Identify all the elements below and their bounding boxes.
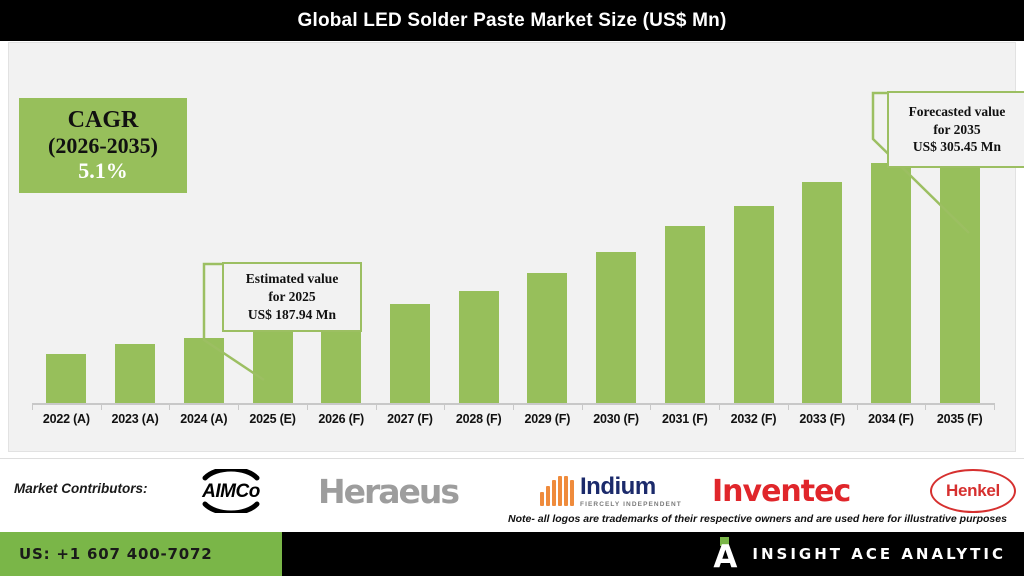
footer-brand-block: A INSIGHT ACE ANALYTIC (712, 532, 1006, 576)
indium-tagline: FIERCELY INDEPENDENT (580, 501, 682, 508)
bar-2023 (115, 344, 155, 403)
x-axis-label-2029: 2029 (F) (513, 412, 581, 426)
axis-tick (582, 403, 583, 410)
bar-2033 (802, 182, 842, 403)
bar-2029 (527, 273, 567, 403)
indium-wordmark: Indium (580, 475, 682, 499)
axis-tick (925, 403, 926, 410)
estimated-line-2: for 2025 (268, 288, 315, 306)
estimated-value-callout: Estimated value for 2025 US$ 187.94 Mn (222, 262, 362, 332)
cagr-box: CAGR (2026-2035) 5.1% (19, 98, 187, 193)
henkel-wordmark: Henkel (946, 481, 1000, 501)
logo-heraeus: Heraeus (318, 467, 458, 515)
x-axis-label-2030: 2030 (F) (582, 412, 650, 426)
footer-contact-block: US: +1 607 400-7072 (0, 532, 282, 576)
bar-2027 (390, 304, 430, 403)
x-axis-label-2027: 2027 (F) (376, 412, 444, 426)
insight-ace-logo-icon: A (712, 537, 738, 571)
x-axis-label-2026: 2026 (F) (307, 412, 375, 426)
chart-panel: 2022 (A)2023 (A)2024 (A)2025 (E)2026 (F)… (8, 42, 1016, 452)
x-axis-label-2032: 2032 (F) (720, 412, 788, 426)
page-title: Global LED Solder Paste Market Size (US$… (297, 10, 726, 32)
market-contributors-label: Market Contributors: (14, 481, 148, 496)
forecasted-line-2: for 2035 (933, 121, 980, 139)
estimated-line-1: Estimated value (246, 270, 339, 288)
heraeus-wordmark: Heraeus (318, 472, 458, 511)
bar-2022 (46, 354, 86, 403)
axis-tick (101, 403, 102, 410)
cagr-value: 5.1% (78, 158, 128, 183)
bar-2032 (734, 206, 774, 403)
axis-tick (32, 403, 33, 410)
x-axis-label-2024: 2024 (A) (170, 412, 238, 426)
x-axis-label-2028: 2028 (F) (445, 412, 513, 426)
axis-tick (994, 403, 995, 410)
brand-letter-a: A (712, 543, 738, 572)
axis-tick (444, 403, 445, 410)
x-axis-label-2023: 2023 (A) (101, 412, 169, 426)
x-axis-label-2022: 2022 (A) (32, 412, 100, 426)
logo-henkel: Henkel (930, 467, 1016, 515)
axis-tick (857, 403, 858, 410)
henkel-oval-icon: Henkel (930, 469, 1016, 513)
x-axis-label-2031: 2031 (F) (651, 412, 719, 426)
cagr-label: CAGR (68, 108, 139, 133)
x-axis-label-2035: 2035 (F) (926, 412, 994, 426)
axis-tick (307, 403, 308, 410)
bar-2028 (459, 291, 499, 403)
forecasted-line-1: Forecasted value (909, 103, 1006, 121)
indium-bars-icon (540, 476, 574, 506)
brand-name: INSIGHT ACE ANALYTIC (752, 545, 1006, 563)
axis-tick (788, 403, 789, 410)
axis-tick (719, 403, 720, 410)
axis-tick (169, 403, 170, 410)
axis-tick (238, 403, 239, 410)
forecasted-line-3: US$ 305.45 Mn (913, 138, 1001, 156)
aimco-wordmark: AIMCo (185, 481, 277, 503)
axis-tick (376, 403, 377, 410)
cagr-period: (2026-2035) (48, 133, 158, 158)
logo-aimco: AIMCo (185, 467, 277, 515)
bar-2024 (184, 338, 224, 403)
bar-2030 (596, 252, 636, 403)
title-bar: Global LED Solder Paste Market Size (US$… (0, 0, 1024, 41)
logo-indium: Indium FIERCELY INDEPENDENT (540, 467, 682, 515)
bar-2034 (871, 163, 911, 403)
logo-inventec: Inventec (712, 467, 850, 515)
bar-2026 (321, 320, 361, 403)
bar-2025 (253, 329, 293, 403)
axis-tick (650, 403, 651, 410)
bar-2031 (665, 226, 705, 403)
bar-2035 (940, 130, 980, 403)
footer-phone[interactable]: US: +1 607 400-7072 (0, 545, 212, 563)
forecasted-value-callout: Forecasted value for 2035 US$ 305.45 Mn (887, 91, 1024, 168)
axis-tick (513, 403, 514, 410)
x-axis-label-2033: 2033 (F) (788, 412, 856, 426)
inventec-wordmark: Inventec (712, 474, 850, 509)
x-axis-label-2025: 2025 (E) (239, 412, 307, 426)
footer-bar: US: +1 607 400-7072 A INSIGHT ACE ANALYT… (0, 532, 1024, 576)
x-axis-label-2034: 2034 (F) (857, 412, 925, 426)
trademark-note: Note- all logos are trademarks of their … (508, 513, 1007, 525)
estimated-line-3: US$ 187.94 Mn (248, 306, 336, 324)
